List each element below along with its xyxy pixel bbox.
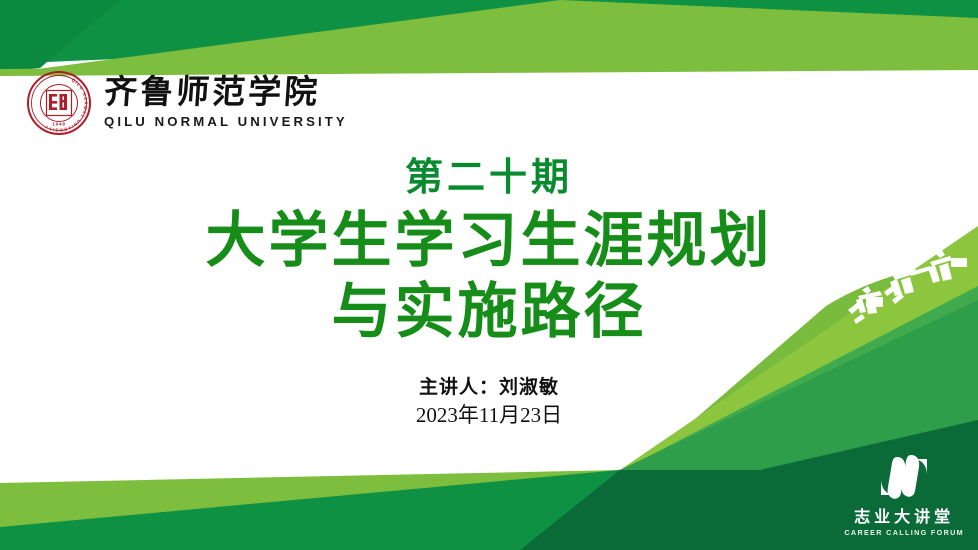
speaker-name: 主讲人：刘淑敏 bbox=[0, 375, 978, 401]
university-logo: QILU NORMAL UNIVERSITY 1948 齐鲁师范学院 QILU … bbox=[26, 70, 348, 136]
forum-name-en: CAREER CALLING FORUM bbox=[844, 529, 964, 538]
forum-name-cn: 志业大讲堂 bbox=[854, 509, 954, 527]
university-wordmark: 齐鲁师范学院 QILU NORMAL UNIVERSITY bbox=[104, 76, 348, 129]
issue-number-title: 第二十期 bbox=[0, 146, 978, 201]
presentation-slide: QILU NORMAL UNIVERSITY 1948 齐鲁师范学院 QILU … bbox=[0, 0, 978, 550]
svg-text:1948: 1948 bbox=[52, 122, 65, 127]
forum-logo: 志业大讲堂 CAREER CALLING FORUM bbox=[844, 453, 964, 538]
main-title-line-2: 与实施路径 bbox=[0, 277, 978, 348]
university-seal-icon: QILU NORMAL UNIVERSITY 1948 bbox=[26, 70, 92, 136]
speaker-date: 2023年11月23日 bbox=[0, 401, 978, 429]
main-title: 大学生学习生涯规划 与实施路径 bbox=[0, 206, 978, 348]
university-name-cn: 齐鲁师范学院 bbox=[103, 76, 321, 111]
main-title-line-1: 大学生学习生涯规划 bbox=[0, 206, 978, 277]
speaker-info: 主讲人：刘淑敏 2023年11月23日 bbox=[0, 375, 978, 429]
career-forum-leaf-icon bbox=[873, 453, 935, 506]
university-name-en: QILU NORMAL UNIVERSITY bbox=[104, 115, 348, 130]
